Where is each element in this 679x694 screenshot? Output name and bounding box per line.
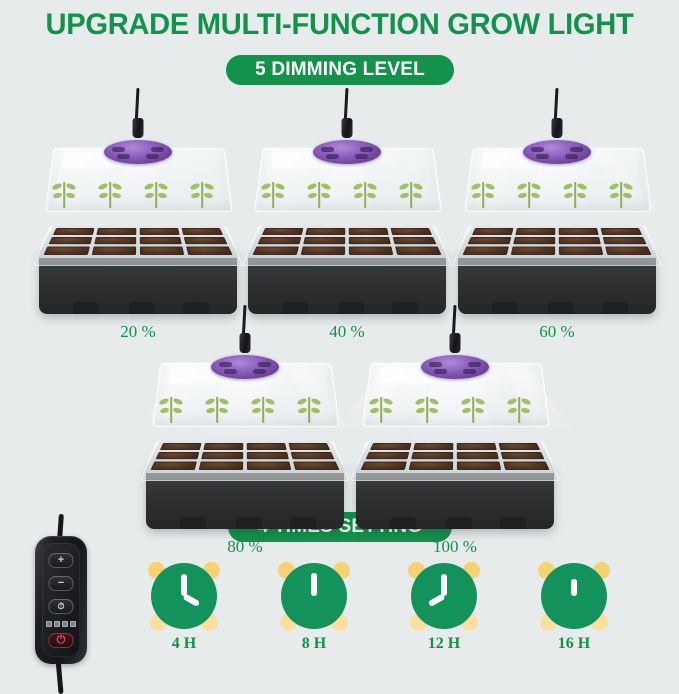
cord-plug xyxy=(552,118,563,138)
clock-hour-hand xyxy=(311,573,317,596)
soil-cell xyxy=(515,228,555,235)
clock-minute-hand xyxy=(441,574,447,596)
soil-cell xyxy=(53,228,95,235)
led-slot xyxy=(468,362,481,367)
base-notch xyxy=(129,302,155,314)
base-notch xyxy=(390,517,416,529)
timer-duration-label: 16 H xyxy=(531,635,617,653)
alarm-bell xyxy=(538,562,555,579)
led-slot xyxy=(219,362,232,367)
timer-option-16h[interactable]: 16 H xyxy=(531,563,617,653)
base-notch xyxy=(290,517,316,529)
led-slot xyxy=(117,154,130,159)
soil-cell xyxy=(365,452,409,460)
alarm-foot xyxy=(280,614,297,631)
brightness-up-button[interactable]: + xyxy=(49,553,74,568)
indicator-led xyxy=(62,621,68,627)
alarm-foot xyxy=(591,614,608,631)
base-notch xyxy=(282,302,308,314)
clock-minute-hand xyxy=(181,574,187,596)
soil-cell xyxy=(303,237,345,245)
timer-duration-label: 12 H xyxy=(401,635,487,653)
soil-cell xyxy=(140,228,180,235)
led-grow-light-disc xyxy=(313,140,381,164)
alarm-foot xyxy=(540,614,557,631)
alarm-bell xyxy=(278,562,295,579)
cord-plug xyxy=(342,118,353,138)
alarm-bell xyxy=(408,562,425,579)
soil-cell xyxy=(92,247,136,255)
indicator-led xyxy=(70,621,76,627)
base-notch xyxy=(392,302,418,314)
base-notch xyxy=(183,302,209,314)
alarm-foot xyxy=(461,614,478,631)
soil-cell xyxy=(199,462,243,470)
soil-cell xyxy=(252,247,298,255)
cord-plug xyxy=(133,118,144,138)
soil-cell xyxy=(501,452,545,460)
soil-cell xyxy=(150,462,196,470)
seed-cell-plane xyxy=(456,226,658,258)
soil-cell xyxy=(257,237,301,245)
soil-cell xyxy=(288,443,330,450)
dimming-level-badge: 5 DIMMING LEVEL xyxy=(226,55,454,85)
base-notch xyxy=(500,517,526,529)
led-slot xyxy=(326,154,339,159)
soil-cell xyxy=(160,443,202,450)
alarm-clock-icon xyxy=(541,563,607,629)
led-grow-light-disc xyxy=(211,355,279,379)
led-slot xyxy=(531,147,544,152)
soil-cell xyxy=(349,228,389,235)
soil-cell xyxy=(43,247,89,255)
soil-cell xyxy=(201,452,243,460)
alarm-foot xyxy=(331,614,348,631)
timer-duration-label: 4 H xyxy=(141,635,227,653)
soil-cell xyxy=(360,462,406,470)
led-grow-light-disc xyxy=(421,355,489,379)
led-slot xyxy=(321,147,334,152)
led-slot xyxy=(253,369,266,374)
alarm-bell xyxy=(593,562,610,579)
soil-cell xyxy=(301,247,345,255)
soil-cell xyxy=(413,443,453,450)
clock-hour-hand xyxy=(428,593,446,607)
soil-cell xyxy=(203,443,243,450)
base-notch xyxy=(73,302,99,314)
cord-plug xyxy=(450,333,461,353)
seed-cell-plane xyxy=(354,441,556,473)
led-slot xyxy=(360,147,373,152)
timer-button[interactable]: ⏱ xyxy=(49,599,74,614)
soil-cell xyxy=(94,237,136,245)
soil-cell xyxy=(96,228,136,235)
soil-cell xyxy=(155,452,199,460)
soil-cell xyxy=(457,462,501,470)
soil-cell xyxy=(247,452,289,460)
soil-cell xyxy=(186,247,232,255)
base-notch xyxy=(338,302,364,314)
alarm-foot xyxy=(201,614,218,631)
soil-cell xyxy=(600,228,642,235)
seed-cell-grid xyxy=(354,411,556,473)
soil-cell xyxy=(390,228,432,235)
led-slot xyxy=(112,147,125,152)
led-slot xyxy=(434,369,447,374)
brightness-down-button[interactable]: − xyxy=(49,576,74,591)
soil-cell xyxy=(247,443,287,450)
led-slot xyxy=(258,362,271,367)
clock-icon: ⏱ xyxy=(57,602,64,611)
soil-cell xyxy=(349,237,391,245)
led-slot xyxy=(570,147,583,152)
base-notch xyxy=(236,517,262,529)
soil-cell xyxy=(513,237,555,245)
soil-cell xyxy=(349,247,393,255)
soil-cell xyxy=(409,462,453,470)
controller-face: + − ⏱ ⏻ xyxy=(42,543,80,657)
alarm-bell xyxy=(463,562,480,579)
led-slot xyxy=(224,369,237,374)
soil-cell xyxy=(462,247,508,255)
seed-cell-grid xyxy=(456,196,658,258)
soil-cell xyxy=(559,247,603,255)
base-notch xyxy=(548,302,574,314)
soil-cell xyxy=(181,228,223,235)
led-slot xyxy=(429,362,442,367)
base-notch xyxy=(180,517,206,529)
power-icon: ⏻ xyxy=(57,635,66,646)
alarm-bell xyxy=(203,562,220,579)
soil-cell xyxy=(393,237,437,245)
soil-cell xyxy=(472,228,514,235)
timer-option-4h[interactable]: 4 H xyxy=(141,563,227,653)
soil-cell xyxy=(498,443,540,450)
grow-tray-unit: 40 % xyxy=(242,88,452,303)
grow-tray-unit: 100 % xyxy=(350,305,560,520)
seed-cell-grid xyxy=(246,196,448,258)
led-slot xyxy=(355,154,368,159)
alarm-clock-icon xyxy=(281,563,347,629)
soil-cell xyxy=(262,228,304,235)
soil-cell xyxy=(184,237,228,245)
indicator-led xyxy=(46,621,52,627)
led-slot xyxy=(463,369,476,374)
seed-cell-plane xyxy=(37,226,239,258)
soil-cell xyxy=(503,462,549,470)
soil-cell xyxy=(467,237,511,245)
cord-plug xyxy=(240,333,251,353)
soil-cell xyxy=(395,247,441,255)
soil-cell xyxy=(247,462,291,470)
controller-body: + − ⏱ ⏻ xyxy=(35,536,87,664)
soil-cell xyxy=(605,247,651,255)
soil-cell xyxy=(293,462,339,470)
base-notch xyxy=(602,302,628,314)
soil-cell xyxy=(48,237,92,245)
timer-option-12h[interactable]: 12 H xyxy=(401,563,487,653)
grow-tray-unit: 60 % xyxy=(452,88,662,303)
led-slot xyxy=(565,154,578,159)
alarm-bell xyxy=(148,562,165,579)
led-slot xyxy=(151,147,164,152)
indicator-led xyxy=(54,621,60,627)
timer-option-8h[interactable]: 8 H xyxy=(271,563,357,653)
soil-cell xyxy=(457,452,499,460)
led-grow-light-disc xyxy=(523,140,591,164)
seed-cell-grid xyxy=(37,196,239,258)
base-notch xyxy=(446,517,472,529)
led-slot xyxy=(146,154,159,159)
timer-indicator-leds xyxy=(46,621,76,627)
base-notch xyxy=(492,302,518,314)
alarm-foot xyxy=(150,614,167,631)
soil-cell xyxy=(457,443,497,450)
alarm-foot xyxy=(410,614,427,631)
seed-cell-grid xyxy=(144,411,346,473)
soil-cell xyxy=(305,228,345,235)
clock-hour-hand xyxy=(183,593,201,607)
grow-tray-unit: 20 % xyxy=(33,88,243,303)
alarm-clock-icon xyxy=(151,563,217,629)
inline-dimmer-controller[interactable]: + − ⏱ ⏻ xyxy=(27,518,99,680)
alarm-bell xyxy=(333,562,350,579)
led-slot xyxy=(536,154,549,159)
alarm-clock-icon xyxy=(411,563,477,629)
clock-hour-hand xyxy=(571,579,577,596)
soil-cell xyxy=(140,237,182,245)
power-button[interactable]: ⏻ xyxy=(49,633,74,648)
soil-cell xyxy=(603,237,647,245)
soil-cell xyxy=(370,443,412,450)
grow-tray-unit: 80 % xyxy=(140,305,350,520)
soil-cell xyxy=(411,452,453,460)
soil-cell xyxy=(559,228,599,235)
soil-cell xyxy=(511,247,555,255)
timer-duration-label: 8 H xyxy=(271,635,357,653)
soil-cell xyxy=(559,237,601,245)
seed-cell-plane xyxy=(246,226,448,258)
soil-cell xyxy=(291,452,335,460)
soil-cell xyxy=(140,247,184,255)
seed-cell-plane xyxy=(144,441,346,473)
page-title: UPGRADE MULTI-FUNCTION GROW LIGHT xyxy=(10,8,669,42)
led-grow-light-disc xyxy=(104,140,172,164)
